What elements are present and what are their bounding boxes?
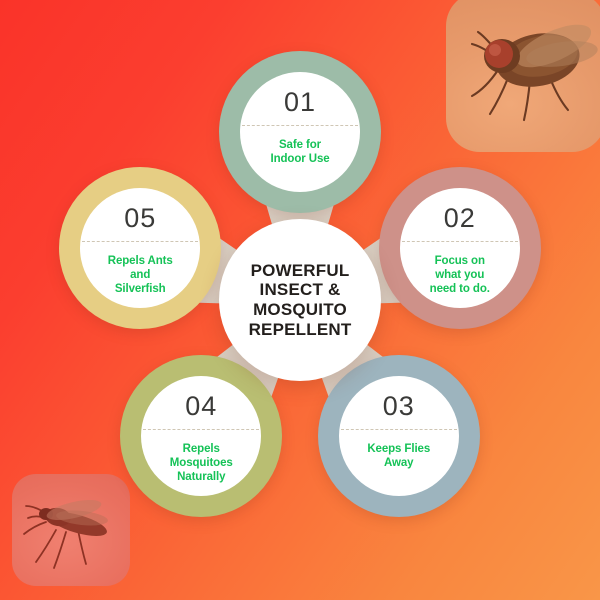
- node-label: Repels Mosquitoes Naturally: [159, 442, 244, 484]
- node-inner-03: 03Keeps Flies Away: [339, 376, 459, 496]
- node-divider: [242, 125, 358, 126]
- node-repels-mosquitoes[interactable]: 04Repels Mosquitoes Naturally: [120, 355, 282, 517]
- node-number: 04: [185, 393, 217, 420]
- node-focus-needs[interactable]: 02Focus on what you need to do.: [379, 167, 541, 329]
- page-title: POWERFUL INSECT & MOSQUITO REPELLENT: [243, 261, 358, 340]
- node-divider: [143, 429, 259, 430]
- node-safe-indoor-use[interactable]: 01Safe for Indoor Use: [219, 51, 381, 213]
- node-label: Keeps Flies Away: [356, 442, 441, 470]
- infographic-canvas: 01Safe for Indoor Use02Focus on what you…: [0, 0, 600, 600]
- node-inner-01: 01Safe for Indoor Use: [240, 72, 360, 192]
- node-label: Repels Ants and Silverfish: [97, 254, 184, 296]
- node-number: 02: [444, 205, 476, 232]
- node-divider: [402, 241, 518, 242]
- node-divider: [82, 241, 198, 242]
- node-label: Safe for Indoor Use: [259, 138, 340, 166]
- node-divider: [341, 429, 457, 430]
- center-hub: POWERFUL INSECT & MOSQUITO REPELLENT: [219, 219, 381, 381]
- node-number: 01: [284, 89, 316, 116]
- node-inner-05: 05Repels Ants and Silverfish: [80, 188, 200, 308]
- feature-wheel: 01Safe for Indoor Use02Focus on what you…: [0, 0, 600, 600]
- node-inner-02: 02Focus on what you need to do.: [400, 188, 520, 308]
- node-inner-04: 04Repels Mosquitoes Naturally: [141, 376, 261, 496]
- node-number: 03: [383, 393, 415, 420]
- node-number: 05: [124, 205, 156, 232]
- node-repels-ants-silverfish[interactable]: 05Repels Ants and Silverfish: [59, 167, 221, 329]
- node-keeps-flies-away[interactable]: 03Keeps Flies Away: [318, 355, 480, 517]
- node-label: Focus on what you need to do.: [419, 254, 501, 296]
